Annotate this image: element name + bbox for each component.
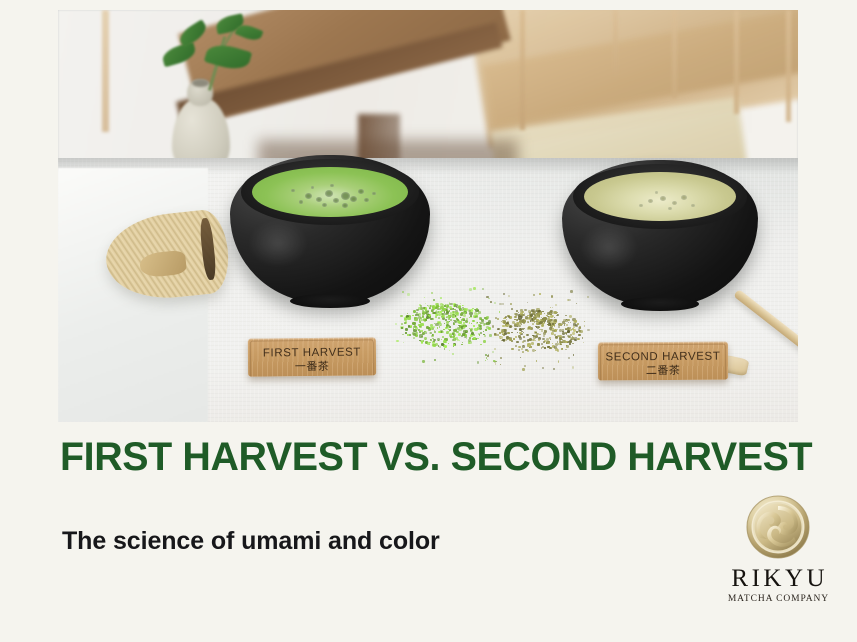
powder-grain [435,307,437,308]
powder-grain [532,323,534,325]
powder-grain [499,332,501,334]
powder-speck [520,309,523,312]
ceramic-vase-mouth [192,79,209,87]
powder-grain [453,344,455,345]
powder-grain [564,324,566,326]
powder-speck [473,287,476,290]
powder-grain [441,339,442,340]
powder-speck [424,297,426,299]
powder-grain [567,319,569,321]
powder-grain [440,303,443,306]
powder-grain [439,323,442,326]
powder-grain [526,334,527,335]
powder-grain [423,325,424,326]
powder-grain [502,334,503,335]
shoji-slat [102,10,109,132]
powder-grain [415,327,418,329]
powder-speck [511,308,513,310]
powder-grain [541,343,543,345]
powder-grain [438,317,440,319]
powder-speck [407,293,410,296]
powder-speck [469,288,472,291]
powder-grain [424,320,426,322]
powder-grain [448,343,449,344]
powder-speck [584,325,585,326]
powder-speck [457,319,459,321]
first-harvest-tea-surface [252,167,408,217]
powder-speck [494,361,496,363]
powder-speck [490,301,492,303]
powder-speck [487,355,489,357]
plaque-japanese-label: 二番茶 [646,365,681,376]
first-harvest-bowl [230,155,430,303]
powder-grain [516,341,518,343]
powder-speck [479,334,480,335]
powder-speck [565,349,567,351]
powder-speck [558,343,560,345]
powder-speck [400,315,402,317]
powder-grain [505,324,509,327]
first-harvest-powder [403,292,489,346]
powder-grain [537,326,539,328]
powder-grain [449,326,451,328]
powder-grain [503,321,506,324]
powder-grain [578,334,580,336]
powder-speck [506,340,507,341]
powder-speck [483,340,486,343]
powder-grain [405,328,408,331]
powder-grain [549,327,552,329]
powder-grain [547,316,549,317]
powder-grain [479,327,482,330]
powder-grain [501,329,504,332]
powder-grain [523,336,525,338]
powder-speck [477,361,479,363]
powder-speck [551,295,553,297]
powder-speck [556,312,557,313]
powder-grain [471,323,472,324]
powder-grain [461,335,463,337]
powder-grain [432,338,433,339]
powder-grain [532,349,535,352]
powder-speck [479,322,480,323]
powder-grain [473,334,475,336]
powder-speck [558,360,560,362]
brand-tagline: MATCHA COMPANY [712,595,844,605]
powder-speck [550,310,551,311]
powder-grain [462,342,463,343]
shoji-slat [613,10,618,76]
powder-grain [414,317,418,320]
powder-grain [577,338,580,340]
powder-grain [433,312,435,314]
powder-grain [437,308,439,310]
slide-canvas: FIRST HARVEST 一番茶 SECOND HARVEST 二番茶 FIR… [0,0,857,642]
powder-grain [413,328,415,330]
powder-grain [473,325,475,327]
powder-speck [536,360,537,361]
plaque-english-label: FIRST HARVEST [263,348,361,361]
powder-grain [463,322,465,324]
powder-grain [461,326,464,328]
powder-speck [587,329,589,331]
powder-speck [402,334,403,335]
powder-grain [426,316,429,319]
powder-grain [574,339,577,342]
powder-speck [499,303,501,305]
powder-grain [535,335,538,338]
powder-grain [463,314,466,317]
powder-speck [557,335,559,337]
powder-grain [422,315,424,317]
powder-grain [480,332,482,334]
powder-speck [514,313,516,315]
powder-speck [528,317,530,319]
powder-speck [422,312,425,315]
powder-grain [497,328,500,331]
powder-grain [562,336,565,338]
powder-grain [509,326,512,329]
plaque-first-harvest: FIRST HARVEST 一番茶 [248,337,376,376]
powder-grain [560,343,562,345]
powder-grain [448,331,449,332]
powder-grain [464,325,467,327]
page-subtitle: The science of umami and color [62,528,440,556]
powder-grain [552,323,554,324]
powder-speck [452,315,455,318]
powder-speck [544,318,546,320]
brand-wordmark: RIKYU [712,566,844,591]
powder-grain [460,317,462,318]
powder-speck [453,338,456,341]
powder-grain [444,323,445,324]
powder-grain [527,327,530,330]
powder-grain [535,350,536,351]
powder-grain [543,332,546,335]
powder-speck [510,303,512,305]
powder-speck [515,345,517,347]
powder-speck [486,296,488,298]
powder-grain [528,310,531,312]
powder-grain [569,340,572,343]
powder-speck [552,307,553,308]
powder-grain [514,319,516,320]
powder-grain [450,319,453,322]
powder-grain [524,320,526,322]
shoji-slat [520,10,525,130]
shoji-slat [734,10,739,114]
powder-grain [572,343,573,344]
powder-speck [548,324,550,326]
powder-grain [567,330,570,333]
powder-grain [452,333,454,335]
second-harvest-powder [496,298,580,352]
powder-grain [401,323,403,325]
powder-grain [577,323,579,325]
powder-grain [561,348,563,350]
powder-grain [470,315,472,317]
powder-grain [486,322,489,325]
powder-grain [462,318,465,320]
powder-grain [546,338,549,341]
powder-speck [403,342,404,343]
powder-grain [572,332,575,335]
powder-grain [465,320,468,323]
powder-grain [477,322,478,323]
powder-grain [512,326,513,327]
powder-speck [547,312,550,315]
rikyu-swirl-emblem-icon [712,494,844,560]
shoji-slat [672,10,677,98]
powder-grain [477,338,479,339]
powder-grain [527,321,529,323]
powder-speck [494,348,496,350]
powder-grain [518,325,520,327]
bamboo-whisk [106,206,238,316]
powder-grain [562,321,565,323]
powder-speck [446,324,447,325]
powder-grain [544,347,546,348]
powder-speck [486,316,489,319]
powder-grain [567,335,570,337]
powder-grain [544,313,545,314]
powder-speck [433,299,435,301]
powder-grain [550,339,552,340]
powder-grain [522,341,525,343]
powder-speck [431,335,434,338]
powder-grain [441,315,444,317]
powder-grain [519,337,522,340]
shoji-slat [786,10,791,122]
powder-grain [429,344,430,345]
powder-speck [484,335,486,337]
powder-grain [513,338,515,340]
powder-speck [521,314,523,316]
powder-grain [524,328,525,329]
powder-grain [569,343,571,345]
powder-speck [502,303,504,305]
powder-speck [455,312,458,315]
powder-grain [419,334,423,337]
powder-speck [395,323,397,325]
powder-grain [539,334,541,336]
powder-speck [527,302,528,303]
foam-bubbles [252,167,408,217]
powder-grain [573,329,576,332]
powder-grain [515,329,516,330]
powder-grain [531,342,534,345]
powder-grain [520,323,522,325]
powder-grain [497,334,499,336]
powder-grain [521,348,523,350]
powder-grain [437,338,440,341]
powder-grain [518,349,521,351]
powder-grain [480,322,482,324]
powder-grain [433,341,435,342]
foam-bubbles [584,172,737,222]
powder-speck [524,365,526,367]
powder-speck [555,304,556,305]
powder-grain [514,316,517,318]
powder-grain [472,320,475,323]
powder-grain [471,332,474,335]
powder-speck [508,295,510,297]
powder-grain [434,331,436,333]
powder-speck [489,334,491,336]
powder-grain [517,332,518,333]
powder-grain [509,338,512,340]
powder-grain [437,327,438,328]
powder-grain [559,337,562,340]
powder-grain [553,311,556,314]
powder-grain [535,340,536,341]
powder-grain [465,334,468,336]
powder-speck [466,338,467,339]
plaque-second-harvest: SECOND HARVEST 二番茶 [598,342,728,381]
powder-grain [506,319,507,320]
powder-grain [407,317,411,320]
powder-grain [574,320,577,323]
powder-speck [523,323,525,325]
powder-speck [460,303,461,304]
bowl-foot [290,294,370,308]
powder-grain [417,314,419,316]
powder-grain [536,322,538,324]
bowl-foot [621,297,699,311]
powder-grain [502,339,505,341]
powder-grain [466,318,468,320]
powder-grain [461,344,462,345]
powder-speck [516,322,518,324]
powder-grain [558,326,561,328]
powder-speck [413,333,416,336]
powder-speck [440,297,442,299]
powder-speck [568,357,570,359]
powder-speck [542,367,544,369]
powder-grain [534,322,535,323]
powder-grain [460,309,462,311]
powder-grain [465,332,467,334]
powder-grain [568,322,569,323]
powder-grain [416,309,419,311]
powder-grain [549,347,551,349]
powder-grain [541,324,544,327]
powder-speck [431,292,433,294]
powder-grain [454,324,456,326]
powder-grain [439,326,441,327]
powder-grain [405,332,407,334]
powder-grain [454,320,457,323]
powder-speck [421,341,424,344]
powder-grain [443,329,445,331]
powder-grain [486,330,487,331]
bowl-highlight [580,224,639,271]
page-title: FIRST HARVEST VS. SECOND HARVEST [60,436,809,478]
powder-grain [410,326,412,328]
powder-speck [422,360,425,363]
powder-grain [458,306,461,309]
powder-grain [555,348,558,350]
powder-grain [532,335,533,336]
plaque-english-label: SECOND HARVEST [605,352,720,364]
powder-speck [425,303,426,304]
powder-speck [516,310,518,312]
powder-speck [480,344,481,345]
powder-grain [511,348,513,350]
powder-grain [576,325,577,326]
powder-grain [409,334,412,336]
powder-speck [522,345,524,347]
powder-grain [413,337,415,339]
powder-grain [511,332,513,334]
powder-grain [570,322,571,323]
powder-speck [500,357,502,359]
powder-grain [401,327,403,329]
powder-grain [554,317,555,318]
powder-grain [529,347,530,348]
powder-speck [550,307,551,308]
powder-speck [402,291,404,293]
powder-grain [557,329,558,330]
powder-grain [546,341,549,344]
powder-speck [527,340,529,342]
powder-grain [538,339,541,341]
powder-grain [552,330,554,332]
powder-grain [505,316,507,318]
second-harvest-tea-surface [584,172,737,222]
powder-grain [418,324,421,326]
powder-grain [554,319,558,322]
hero-photo: FIRST HARVEST 一番茶 SECOND HARVEST 二番茶 [58,10,798,422]
powder-grain [552,343,553,344]
powder-grain [565,315,567,317]
powder-speck [524,309,526,311]
powder-grain [522,328,524,330]
powder-grain [549,337,551,339]
powder-grain [483,331,484,332]
powder-speck [407,313,409,315]
plaque-japanese-label: 一番茶 [295,361,330,372]
powder-grain [488,327,491,330]
brand-logo: RIKYU MATCHA COMPANY [712,494,844,605]
powder-grain [475,316,478,318]
powder-grain [442,308,446,311]
powder-grain [454,304,457,307]
powder-grain [435,316,437,318]
powder-grain [527,350,530,352]
powder-grain [508,316,511,318]
powder-grain [557,314,559,316]
powder-grain [507,332,509,334]
powder-grain [562,329,564,331]
powder-speck [522,368,525,371]
